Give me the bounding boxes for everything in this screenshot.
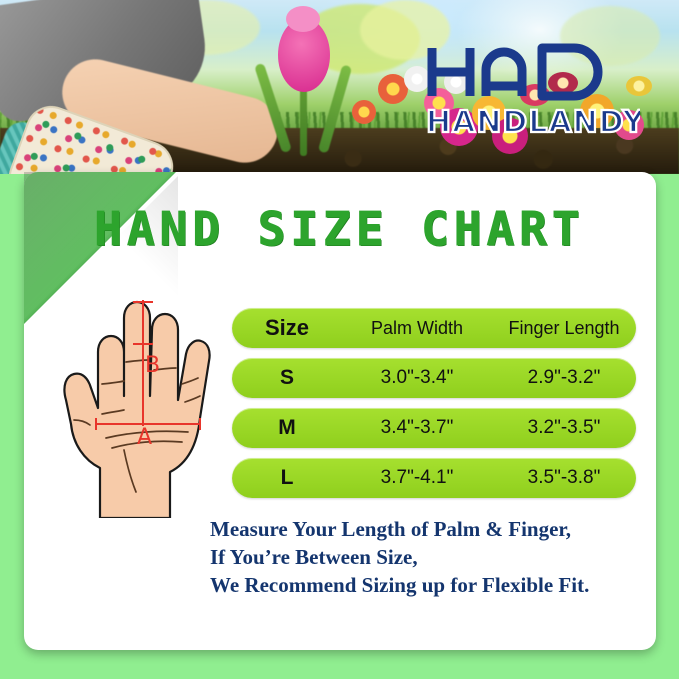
hand-palm-diagram: A B xyxy=(40,292,230,518)
hand-label-a: A xyxy=(137,425,152,450)
note-line-2: If You’re Between Size, xyxy=(210,544,589,572)
table-row: S 3.0"-3.4" 2.9"-3.2" xyxy=(232,358,636,398)
hand-label-b: B xyxy=(145,353,160,378)
header-size: Size xyxy=(232,315,342,341)
header-finger-length: Finger Length xyxy=(492,318,636,339)
cell-finger-length: 3.2"-3.5" xyxy=(492,417,636,439)
cell-size: L xyxy=(232,466,342,490)
size-table: Size Palm Width Finger Length S 3.0"-3.4… xyxy=(232,308,636,508)
svg-text:HANDLANDY: HANDLANDY xyxy=(426,105,640,136)
page-title: HAND SIZE CHART xyxy=(0,202,679,256)
cell-size: S xyxy=(232,366,342,390)
note-line-3: We Recommend Sizing up for Flexible Fit. xyxy=(210,572,589,600)
hand-size-chart-page: HANDLANDY HAND SIZE CHART xyxy=(0,0,679,679)
header-palm-width: Palm Width xyxy=(342,318,492,339)
table-row: L 3.7"-4.1" 3.5"-3.8" xyxy=(232,458,636,498)
sizing-note: Measure Your Length of Palm & Finger, If… xyxy=(210,516,589,600)
cell-size: M xyxy=(232,416,342,440)
cell-palm-width: 3.7"-4.1" xyxy=(342,467,492,489)
cell-finger-length: 2.9"-3.2" xyxy=(492,367,636,389)
table-row: M 3.4"-3.7" 3.2"-3.5" xyxy=(232,408,636,448)
table-header-row: Size Palm Width Finger Length xyxy=(232,308,636,348)
cell-palm-width: 3.4"-3.7" xyxy=(342,417,492,439)
cell-palm-width: 3.0"-3.4" xyxy=(342,367,492,389)
cell-finger-length: 3.5"-3.8" xyxy=(492,467,636,489)
handlandy-logo: HANDLANDY xyxy=(424,40,640,136)
note-line-1: Measure Your Length of Palm & Finger, xyxy=(210,516,589,544)
